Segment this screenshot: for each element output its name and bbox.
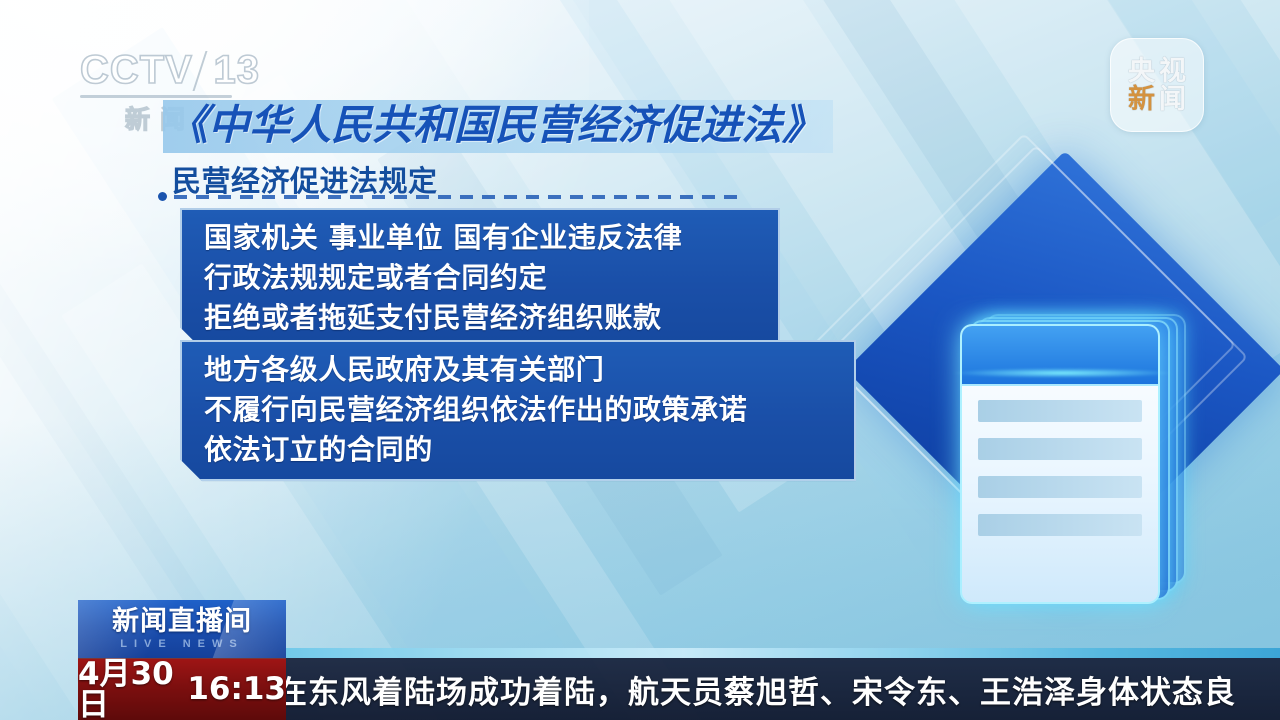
document-icon bbox=[960, 324, 1160, 604]
ticker-top-accent-strip bbox=[286, 648, 1280, 658]
document-stack bbox=[960, 320, 1210, 610]
watermark-char-wen: 闻 bbox=[1159, 86, 1186, 113]
divider-bullet-icon bbox=[158, 192, 167, 201]
content-block-2: 地方各级人民政府及其有关部门 不履行向民营经济组织依法作出的政策承诺 依法订立的… bbox=[180, 340, 856, 481]
document-text-lines bbox=[962, 386, 1158, 550]
program-name-en: LIVE NEWS bbox=[120, 639, 244, 650]
document-diamond-graphic bbox=[880, 195, 1280, 625]
headline-title-banner: 《中华人民共和国民营经济促进法》 bbox=[163, 100, 833, 153]
cctv-logo-text: CCTV bbox=[80, 48, 193, 93]
cctv-logo-row: CCTV 13 bbox=[80, 48, 260, 93]
cctv-logo-slash-icon bbox=[192, 51, 216, 91]
datetime-badge: 4月30日 16:13 bbox=[78, 658, 286, 720]
news-ticker: 在东风着陆场成功着陆，航天员蔡旭哲、宋令东、王浩泽身体状态良 bbox=[286, 658, 1280, 720]
watermark-char-xin: 新 bbox=[1128, 86, 1155, 113]
content-line: 依法订立的合同的 bbox=[204, 430, 838, 470]
watermark-row-bottom: 新 闻 bbox=[1128, 86, 1186, 113]
content-line: 国家机关 事业单位 国有企业违反法律 bbox=[204, 218, 762, 258]
headline-title: 《中华人民共和国民营经济促进法》 bbox=[167, 104, 823, 147]
ticker-text: 在东风着陆场成功着陆，航天员蔡旭哲、宋令东、王浩泽身体状态良 bbox=[286, 667, 1236, 712]
broadcast-time: 16:13 bbox=[187, 674, 286, 705]
cctv-news-watermark: 央 视 新 闻 bbox=[1110, 38, 1204, 132]
divider-dashed-line bbox=[174, 195, 742, 199]
program-logo: 新闻直播间 LIVE NEWS bbox=[78, 600, 286, 658]
content-line: 拒绝或者拖延支付民营经济组织账款 bbox=[204, 298, 762, 338]
watermark-row-top: 央 视 bbox=[1128, 58, 1186, 85]
document-glow bbox=[950, 368, 1175, 378]
watermark-char-yang: 央 bbox=[1128, 58, 1155, 85]
broadcast-screen: CCTV 13 新闻 央 视 新 闻 《中华人民共和国民营经济促进法》 民营经济… bbox=[0, 0, 1280, 720]
cctv-logo-number: 13 bbox=[214, 48, 261, 93]
lower-third-bar: 新闻直播间 LIVE NEWS 4月30日 16:13 在东风着陆场成功着陆，航… bbox=[0, 600, 1280, 720]
content-line: 行政法规规定或者合同约定 bbox=[204, 258, 762, 298]
content-line: 地方各级人民政府及其有关部门 bbox=[204, 350, 838, 390]
content-line: 不履行向民营经济组织依法作出的政策承诺 bbox=[204, 390, 838, 430]
program-name-cn: 新闻直播间 bbox=[112, 608, 252, 635]
cctv-logo-underline bbox=[80, 95, 232, 98]
content-block-1: 国家机关 事业单位 国有企业违反法律 行政法规规定或者合同约定 拒绝或者拖延支付… bbox=[180, 208, 780, 349]
headline-divider bbox=[158, 193, 742, 199]
watermark-char-shi: 视 bbox=[1159, 58, 1186, 85]
broadcast-date: 4月30日 bbox=[78, 659, 177, 720]
